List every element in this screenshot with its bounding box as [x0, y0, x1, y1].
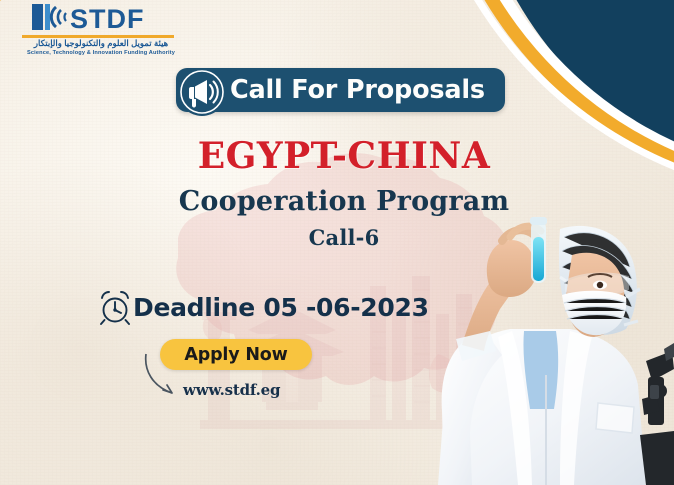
call-for-proposals-poster: STDF هيئة تمويل العلوم والتكنولوجيا والإ… [0, 0, 674, 485]
website-url-link[interactable]: www.stdf.eg [183, 381, 280, 399]
svg-text:STDF: STDF [70, 4, 145, 34]
stdf-logo: STDF هيئة تمويل العلوم والتكنولوجيا والإ… [8, 2, 186, 56]
headline-program: Cooperation Program [14, 188, 674, 215]
logo-english-name: Science, Technology & Innovation Funding… [8, 50, 186, 56]
deadline-label: Deadline 05 -06-2023 [133, 293, 429, 322]
headline-countries: EGYPT-CHINA [14, 138, 674, 174]
alarm-clock-icon [98, 288, 132, 326]
call-for-proposals-label: Call For Proposals [230, 75, 485, 105]
logo-arabic-name: هيئة تمويل العلوم والتكنولوجيا والإبتكار [8, 39, 186, 49]
poster-headline: EGYPT-CHINA Cooperation Program Call-6 [0, 138, 674, 248]
megaphone-icon [176, 66, 228, 118]
headline-call-number: Call-6 [14, 227, 674, 248]
stdf-wave-logo-icon: STDF [8, 2, 186, 34]
call-for-proposals-banner: Call For Proposals [176, 68, 505, 112]
deadline-block: Deadline 05 -06-2023 [98, 288, 429, 326]
